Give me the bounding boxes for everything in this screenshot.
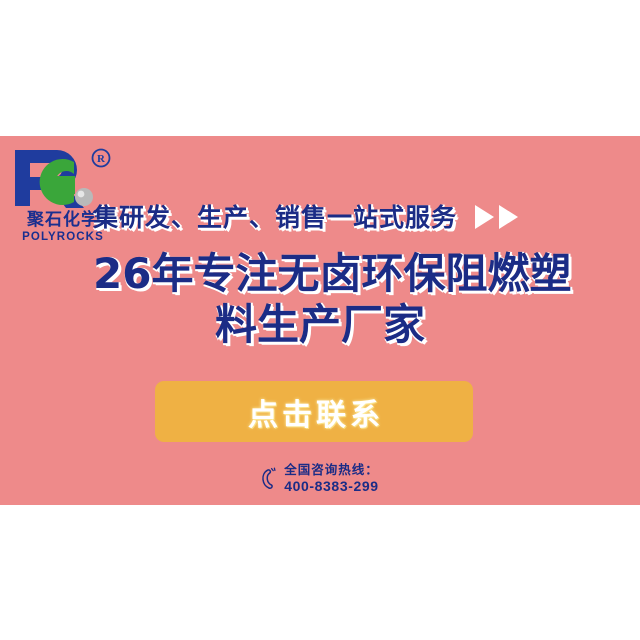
hotline-text: 全国咨询热线： 400-8383-299 bbox=[284, 463, 379, 494]
tagline-text: 集研发、生产、销售一站式服务 bbox=[93, 198, 457, 234]
contact-cta-button[interactable]: 点击联系 bbox=[155, 381, 473, 442]
hotline-block[interactable]: 全国咨询热线： 400-8383-299 bbox=[0, 463, 640, 494]
banner-copy: 集研发、生产、销售一站式服务 26年专注无卤环保阻燃塑 料生产厂家 bbox=[93, 196, 593, 350]
double-right-triangle-icon bbox=[475, 205, 518, 229]
contact-cta-label: 点击联系 bbox=[244, 390, 384, 434]
promo-banner: R 聚石化学 POLYROCKS 集研发、生产、销售一站式服务 26年专注无卤环… bbox=[0, 136, 640, 505]
headline-line-1: 26年专注无卤环保阻燃塑 bbox=[93, 248, 593, 299]
arrow-triangle-2 bbox=[499, 205, 518, 229]
hotline-label: 全国咨询热线： bbox=[284, 463, 379, 478]
headline-line-2: 料生产厂家 bbox=[93, 299, 593, 350]
hotline-number: 400-8383-299 bbox=[284, 478, 379, 495]
page-canvas: R 聚石化学 POLYROCKS 集研发、生产、销售一站式服务 26年专注无卤环… bbox=[0, 0, 640, 640]
svg-text:R: R bbox=[97, 153, 106, 165]
phone-handset-icon bbox=[261, 467, 278, 491]
arrow-triangle-1 bbox=[475, 205, 494, 229]
headline: 26年专注无卤环保阻燃塑 料生产厂家 bbox=[93, 248, 593, 350]
tagline-row: 集研发、生产、销售一站式服务 bbox=[93, 196, 593, 236]
